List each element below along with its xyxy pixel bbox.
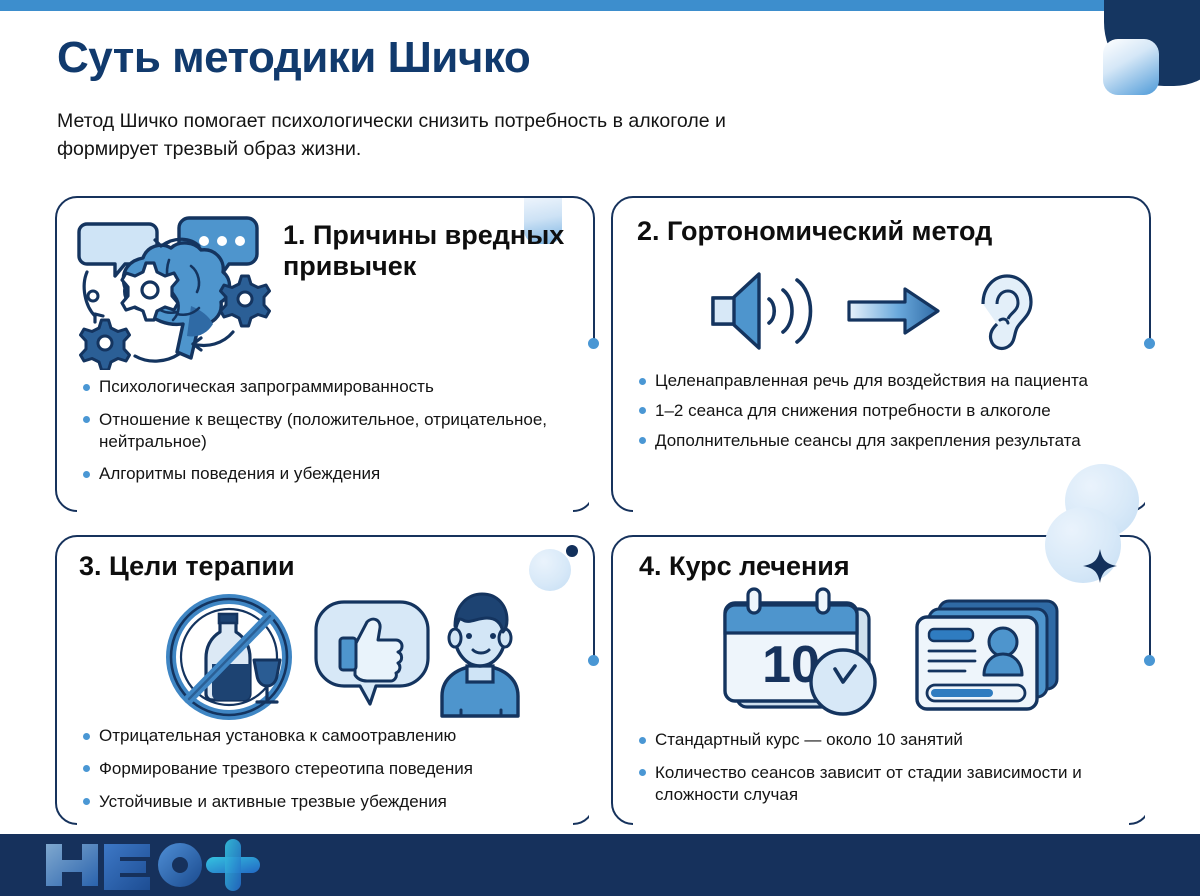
border-gap-mask-bottom [77,506,573,514]
calendar-clock-idcards-icon: 10 [703,587,1073,722]
border-gap-mask [589,340,597,515]
card-title: 1. Причины вредных привычек [283,220,583,283]
card-title: 3. Цели терапии [79,551,295,582]
edge-dot [1144,655,1155,666]
list-item: Количество сеансов зависит от стадии зав… [635,762,1131,806]
edge-dot [588,338,599,349]
footer-bar [0,834,1200,896]
page-subtitle: Метод Шичко помогает психологически сниз… [57,108,777,163]
border-gap-mask [1145,340,1153,515]
speaker-arrow-ear-icon [703,266,1033,356]
list-item: 1–2 сеанса для снижения потребности в ал… [635,400,1131,422]
list-item: Отрицательная установка к самоотравлению [79,725,575,747]
decorative-circle [529,549,571,591]
page-title: Суть методики Шичко [57,33,530,83]
card-header: 4. Курс лечения [639,551,850,582]
card-bullet-list: Стандартный курс — около 10 занятий Коли… [635,729,1131,816]
card-therapy-goals: 3. Цели терапии [55,535,595,825]
list-item: Отношение к веществу (положительное, отр… [79,409,575,453]
list-item: Целенаправленная речь для воздействия на… [635,370,1131,392]
list-item: Формирование трезвого стереотипа поведен… [79,758,575,780]
decorative-dark-dot [566,545,578,557]
edge-dot [588,655,599,666]
border-gap-mask [589,657,597,832]
card-bullet-list: Отрицательная установка к самоотравлению… [79,725,575,823]
list-item: Устойчивые и активные трезвые убеждения [79,791,575,813]
neo-plus-logo [42,838,282,892]
card-bullet-list: Целенаправленная речь для воздействия на… [635,370,1131,459]
border-gap-mask [1145,657,1153,832]
card-causes-of-bad-habits: 1. Причины вредных привычек Психологичес… [55,196,595,512]
card-gortonomic-method: 2. Гортономический метод [611,196,1151,512]
card-header: 2. Гортономический метод [637,216,992,247]
brain-gears-speech-bubbles-icon [73,210,273,370]
card-header: 3. Цели терапии [79,551,295,582]
list-item: Алгоритмы поведения и убеждения [79,463,575,485]
card-treatment-course: 4. Курс лечения 10 [611,535,1151,825]
edge-dot [1144,338,1155,349]
list-item: Стандартный курс — около 10 занятий [635,729,1131,751]
card-header: 1. Причины вредных привычек [283,220,583,283]
sparkle-icon [1083,549,1117,583]
list-item: Психологическая запрограммированность [79,376,575,398]
card-bullet-list: Психологическая запрограммированность От… [79,376,575,496]
list-item: Дополнительные сеансы для закрепления ре… [635,430,1131,452]
no-alcohol-thumbsup-person-icon [162,592,522,722]
top-accent-bar [0,0,1200,11]
border-gap-mask-bottom [633,506,1129,514]
border-gap-mask-bottom [633,819,1129,827]
card-title: 2. Гортономический метод [637,216,992,247]
decorative-light-square [1103,39,1159,95]
card-title: 4. Курс лечения [639,551,850,582]
